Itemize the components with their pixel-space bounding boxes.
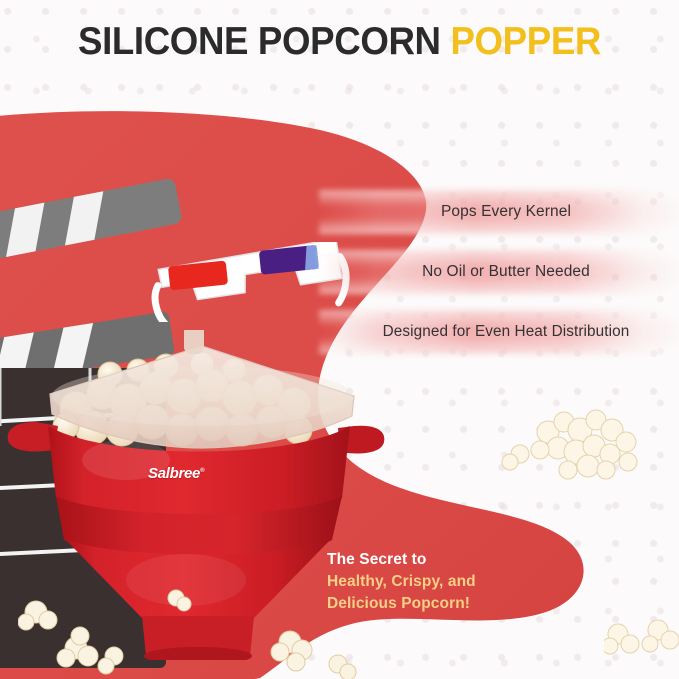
brand-logo: Salbree® [148,465,204,482]
brand-name: Salbree [148,465,200,482]
tagline: The Secret to Healthy, Crispy, and Delic… [327,549,476,615]
tagline-line-2: Healthy, Crispy, and [327,571,476,593]
product-infographic: SILICONE POPCORN POPPER [0,0,679,679]
popcorn-bottom-right [604,612,679,679]
feature-list: Pops Every Kernel No Oil or Butter Neede… [333,186,679,366]
page-title: SILICONE POPCORN POPPER [20,22,658,61]
feature-row-2: No Oil or Butter Needed [333,246,679,298]
tagline-line-1: The Secret to [327,549,476,571]
feature-row-1: Pops Every Kernel [333,186,679,238]
tagline-line-3: Delicious Popcorn! [327,593,476,615]
headline-accent: POPPER [450,20,601,63]
feature-label: Designed for Even Heat Distribution [383,323,630,341]
headline-primary: SILICONE POPCORN [78,20,441,63]
feature-row-3: Designed for Even Heat Distribution [333,306,679,358]
feature-label: No Oil or Butter Needed [422,263,590,281]
brand-trademark: ® [200,468,204,474]
feature-label: Pops Every Kernel [441,203,571,221]
